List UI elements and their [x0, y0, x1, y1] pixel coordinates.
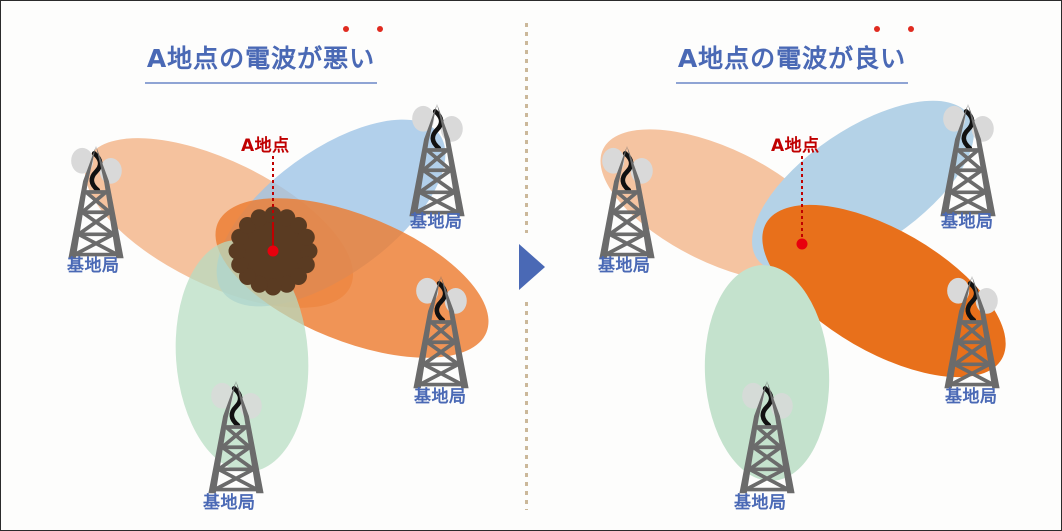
left-label-base-station-south: 基地局: [203, 488, 256, 513]
diagram-canvas: A地点の電波が悪い A地点 基地局 基地局 基地局 基地局: [0, 0, 1062, 531]
right-label-base-station-north-east: 基地局: [941, 207, 994, 232]
left-spot-label: A地点: [241, 131, 290, 156]
left-label-base-station-west: 基地局: [67, 251, 120, 276]
spot-marker: [268, 246, 279, 257]
right-label-base-station-south-east: 基地局: [945, 382, 998, 407]
left-label-base-station-south-east: 基地局: [414, 382, 467, 407]
right-label-base-station-west: 基地局: [598, 251, 651, 276]
left-label-base-station-north-east: 基地局: [410, 207, 463, 232]
panel-bad-signal: A地点の電波が悪い A地点 基地局 基地局 基地局 基地局: [1, 1, 521, 531]
right-label-base-station-south: 基地局: [734, 488, 787, 513]
spot-marker: [797, 239, 808, 250]
progression-arrow: [519, 244, 545, 290]
right-spot-label: A地点: [771, 131, 820, 156]
panel-good-signal: A地点の電波が良い A地点 基地局 基地局 基地局 基地局: [532, 1, 1052, 531]
